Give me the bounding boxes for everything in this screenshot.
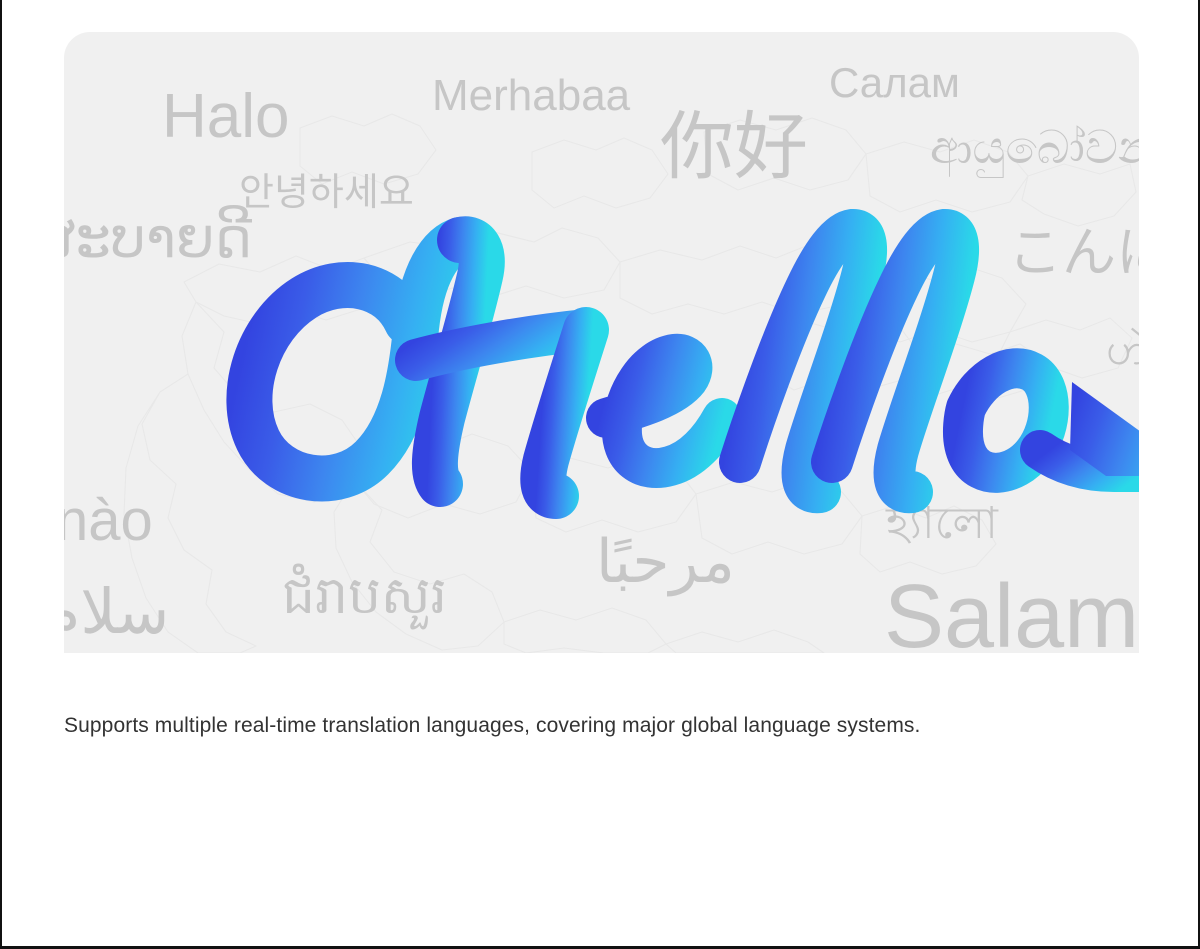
greeting-nihao: 你好	[660, 110, 808, 184]
greeting-burmese: ဟဲ	[1106, 328, 1139, 372]
greeting-salam-cyrillic: Салам	[829, 62, 960, 104]
greeting-arabic: مرحبًا	[596, 532, 735, 592]
greeting-vietnamese: nào	[64, 492, 153, 550]
page-root: Halo Merhabaa 你好 Салам ආයුබෝවන් 안녕하세요 ສະ…	[0, 0, 1200, 949]
greeting-lao: ສະບາຍດີ	[64, 210, 252, 266]
language-showcase-card: Halo Merhabaa 你好 Салам ආයුබෝවන් 안녕하세요 ສະ…	[64, 32, 1139, 653]
greeting-korean: 안녕하세요	[239, 174, 414, 212]
greeting-salam-latin: Salam	[884, 572, 1139, 653]
feature-caption: Supports multiple real-time translation …	[64, 711, 1144, 741]
greeting-merhabaa: Merhabaa	[432, 74, 630, 118]
greeting-persian: سلام	[64, 582, 169, 644]
greeting-khmer: ជំរាបសួរ	[282, 570, 447, 622]
world-map-background	[64, 32, 1139, 653]
greeting-halo: Halo	[162, 86, 290, 148]
greeting-words-layer: Halo Merhabaa 你好 Салам ආයුබෝවන් 안녕하세요 ສະ…	[64, 32, 1139, 653]
hello-wordmark	[154, 212, 1139, 512]
greeting-japanese: こんに	[1008, 226, 1139, 280]
greeting-bengali: হ্যালো	[886, 502, 998, 546]
greeting-sinhala: ආයුබෝවන්	[930, 124, 1139, 170]
